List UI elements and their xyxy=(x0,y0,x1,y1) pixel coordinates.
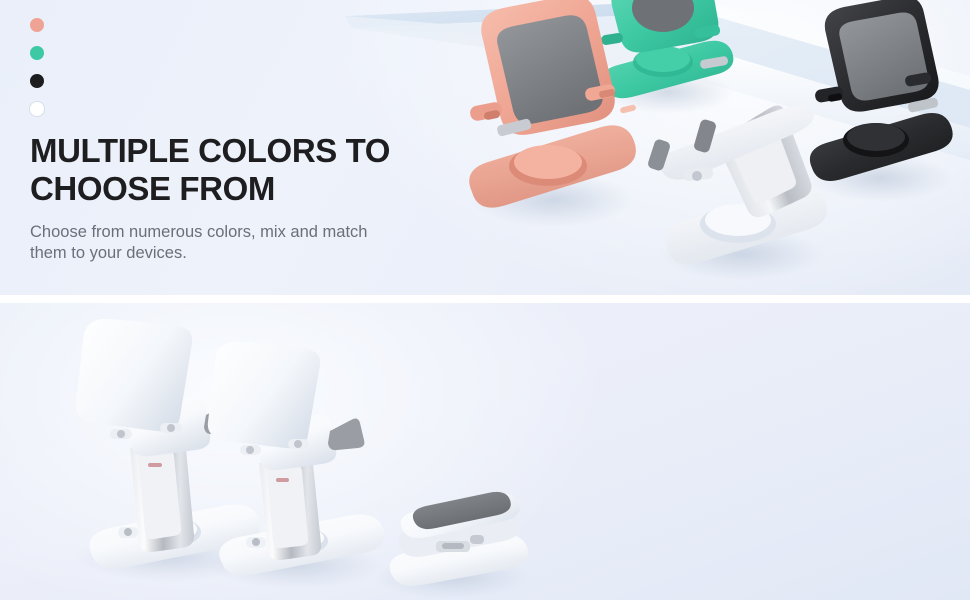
product-phone-stand-white-mid xyxy=(208,342,385,589)
color-swatch-list xyxy=(30,18,450,116)
product-phone-stand-black xyxy=(808,0,953,202)
color-swatch-white[interactable] xyxy=(30,102,44,116)
section-divider xyxy=(0,295,970,303)
colors-text-block: MULTIPLE COLORS TO CHOOSE FROM Choose fr… xyxy=(30,18,450,265)
section-multiple-colors: MULTIPLE COLORS TO CHOOSE FROM Choose fr… xyxy=(0,0,970,295)
color-swatch-black[interactable] xyxy=(30,74,44,88)
colors-headline: MULTIPLE COLORS TO CHOOSE FROM xyxy=(30,132,450,209)
color-swatch-green[interactable] xyxy=(30,46,44,60)
color-swatch-pink[interactable] xyxy=(30,18,44,32)
colors-subcopy: Choose from numerous colors, mix and mat… xyxy=(30,222,400,266)
product-scene-fold xyxy=(0,303,970,600)
section-compact-fold: COMPACT FOLD Fold and unfold within seco… xyxy=(0,303,970,600)
product-phone-stand-white-reclined xyxy=(647,103,827,280)
product-phone-stand-white-folded xyxy=(374,492,530,599)
product-feature-banner: MULTIPLE COLORS TO CHOOSE FROM Choose fr… xyxy=(0,0,970,600)
